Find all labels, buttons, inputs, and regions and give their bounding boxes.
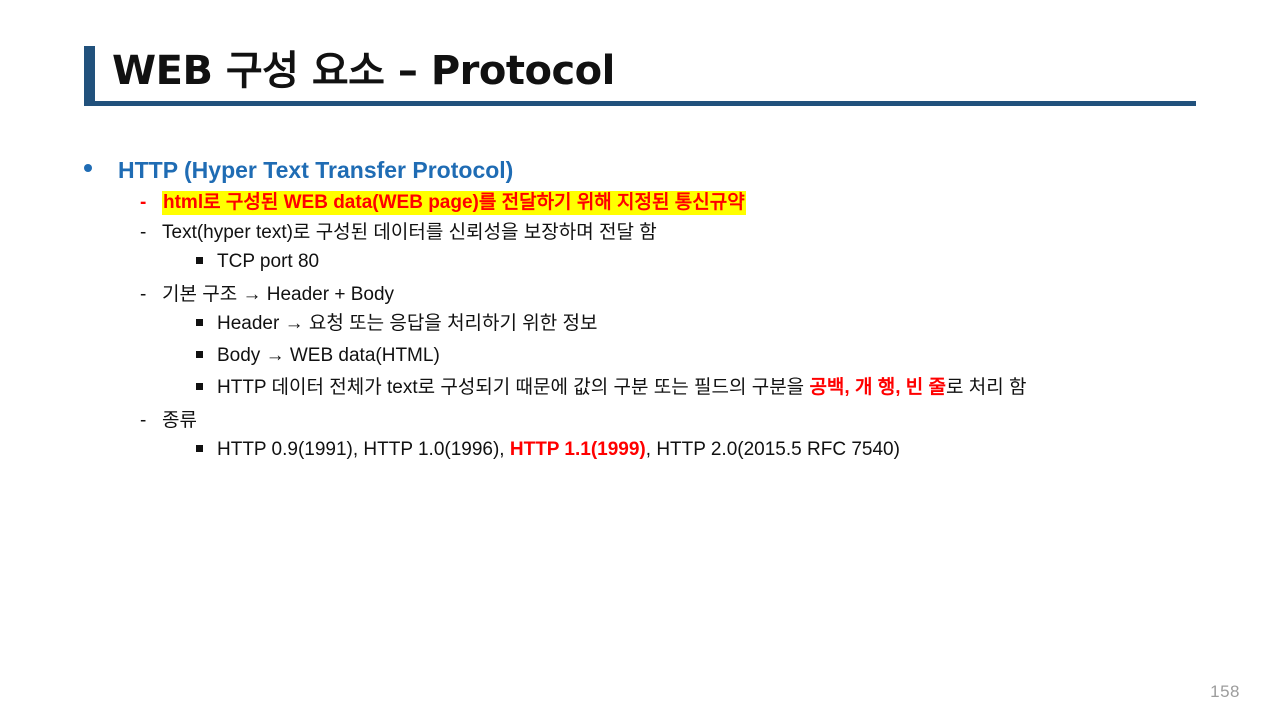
bullet-level3-label: Header → 요청 또는 응답을 처리하기 위한 정보 <box>217 310 1199 338</box>
dash-marker-icon: - <box>140 218 162 247</box>
highlight-span: html로 구성된 WEB data(WEB page)를 전달하기 위해 지정… <box>162 191 746 215</box>
text-after: 로 처리 함 <box>946 377 1026 398</box>
title-underline-rule <box>84 101 1196 106</box>
bullet-level3-text-composition: HTTP 데이터 전체가 text로 구성되기 때문에 값의 구분 또는 필드의… <box>84 374 1199 402</box>
bullet-level2-highlighted: - html로 구성된 WEB data(WEB page)를 전달하기 위해 … <box>84 188 1199 217</box>
bullet-level3-label: HTTP 데이터 전체가 text로 구성되기 때문에 값의 구분 또는 필드의… <box>217 374 1177 402</box>
bullet-level2-highlighted-label: html로 구성된 WEB data(WEB page)를 전달하기 위해 지정… <box>162 188 1199 217</box>
bullet-level3-label: HTTP 0.9(1991), HTTP 1.0(1996), HTTP 1.1… <box>217 436 1199 464</box>
title-accent-bar <box>84 46 95 101</box>
text-before: HTTP 데이터 전체가 text로 구성되기 때문에 값의 구분 또는 필드의… <box>217 377 809 398</box>
page-number: 158 <box>1210 682 1240 702</box>
page-title: WEB 구성 요소 – Protocol <box>112 42 615 100</box>
text-after: , HTTP 2.0(2015.5 RFC 7540) <box>646 439 900 460</box>
bullet-level3-label: TCP port 80 <box>217 248 1199 276</box>
bullet-level2-label: 기본 구조 → Header + Body <box>162 280 1199 309</box>
dash-marker-icon: - <box>140 280 162 309</box>
square-bullet-icon <box>196 436 217 464</box>
slide-title-block: WEB 구성 요소 – Protocol <box>84 44 1194 106</box>
slide: WEB 구성 요소 – Protocol HTTP (Hyper Text Tr… <box>0 0 1280 720</box>
square-bullet-icon <box>196 342 217 370</box>
text-before: HTTP 0.9(1991), HTTP 1.0(1996), <box>217 439 510 460</box>
square-bullet-icon <box>196 374 217 402</box>
dash-marker-icon: - <box>140 188 162 217</box>
bullet-level3-body: Body → WEB data(HTML) <box>84 342 1199 370</box>
square-bullet-icon <box>196 310 217 338</box>
dash-marker-icon: - <box>140 406 162 435</box>
bullet-level1-label: HTTP (Hyper Text Transfer Protocol) <box>118 155 1199 185</box>
slide-body: HTTP (Hyper Text Transfer Protocol) - ht… <box>84 155 1199 468</box>
emphasis-text: 공백, 개 행, 빈 줄 <box>809 377 946 398</box>
bullet-level1: HTTP (Hyper Text Transfer Protocol) <box>84 155 1199 185</box>
bullet-level2-basic-structure: - 기본 구조 → Header + Body <box>84 280 1199 309</box>
bullet-level3-tcp-port: TCP port 80 <box>84 248 1199 276</box>
bullet-level2-text-protocol: - Text(hyper text)로 구성된 데이터를 신뢰성을 보장하며 전… <box>84 218 1199 247</box>
square-bullet-icon <box>196 248 217 276</box>
bullet-level2-label: Text(hyper text)로 구성된 데이터를 신뢰성을 보장하며 전달 … <box>162 218 1199 247</box>
bullet-dot-icon <box>84 155 118 185</box>
bullet-level2-label: 종류 <box>162 406 1199 435</box>
bullet-level2-types: - 종류 <box>84 406 1199 435</box>
emphasis-text: HTTP 1.1(1999) <box>510 439 646 460</box>
bullet-level3-http-versions: HTTP 0.9(1991), HTTP 1.0(1996), HTTP 1.1… <box>84 436 1199 464</box>
bullet-level3-label: Body → WEB data(HTML) <box>217 342 1199 370</box>
bullet-level3-header: Header → 요청 또는 응답을 처리하기 위한 정보 <box>84 310 1199 338</box>
